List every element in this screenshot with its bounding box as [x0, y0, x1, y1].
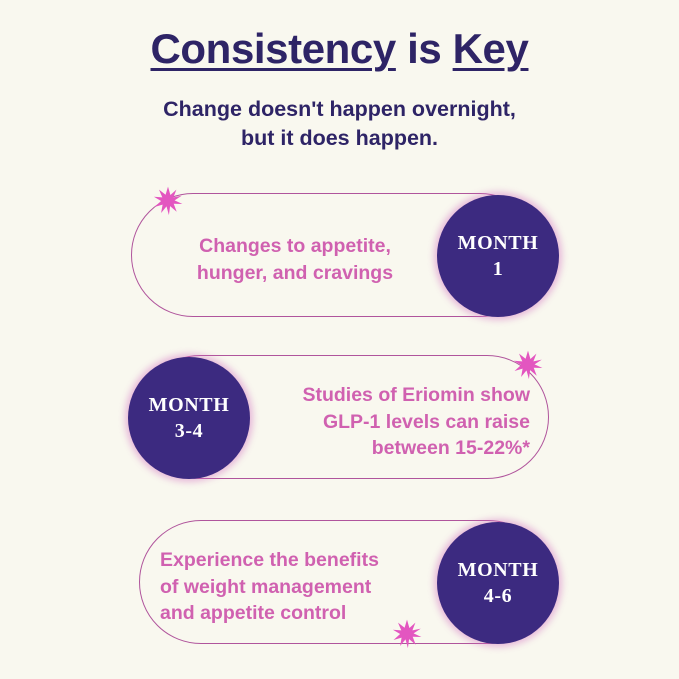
card-description-line: Studies of Eriomin show: [258, 382, 530, 409]
card-description: Changes to appetite, hunger, and craving…: [160, 186, 430, 334]
infographic-page: Consistency is Key Change doesn't happen…: [0, 0, 679, 679]
page-title-part-3: Key: [453, 25, 529, 72]
month-badge-number: 1: [493, 258, 504, 280]
card-description-line: and appetite control: [160, 600, 428, 627]
timeline-card-month-3-4: Studies of Eriomin show GLP-1 levels can…: [0, 348, 679, 496]
page-subtitle: Change doesn't happen overnight, but it …: [0, 95, 679, 152]
card-description: Experience the benefits of weight manage…: [160, 513, 428, 661]
card-description-line: Changes to appetite,: [160, 233, 430, 260]
month-badge-word: MONTH: [149, 394, 230, 416]
month-badge-number: 3-4: [175, 420, 203, 442]
month-badge-word: MONTH: [458, 559, 539, 581]
page-subtitle-line-1: Change doesn't happen overnight,: [0, 95, 679, 123]
card-description-line: between 15-22%*: [258, 435, 530, 462]
month-badge-number: 4-6: [484, 585, 512, 607]
page-title-part-2: is: [396, 25, 453, 72]
page-subtitle-line-2: but it does happen.: [0, 124, 679, 152]
timeline-card-month-4-6: Experience the benefits of weight manage…: [0, 513, 679, 661]
month-badge-word: MONTH: [458, 232, 539, 254]
month-badge: MONTH 3-4: [128, 357, 250, 479]
card-description-line: GLP-1 levels can raise: [258, 409, 530, 436]
month-badge: MONTH 4-6: [437, 522, 559, 644]
card-description-line: Experience the benefits: [160, 547, 428, 574]
card-description-line: hunger, and cravings: [160, 260, 430, 287]
card-description-line: of weight management: [160, 574, 428, 601]
page-title-part-1: Consistency: [151, 25, 396, 72]
month-badge: MONTH 1: [437, 195, 559, 317]
card-description: Studies of Eriomin show GLP-1 levels can…: [258, 348, 530, 496]
header: Consistency is Key Change doesn't happen…: [0, 26, 679, 152]
timeline-card-month-1: Changes to appetite, hunger, and craving…: [0, 186, 679, 334]
page-title: Consistency is Key: [0, 26, 679, 71]
